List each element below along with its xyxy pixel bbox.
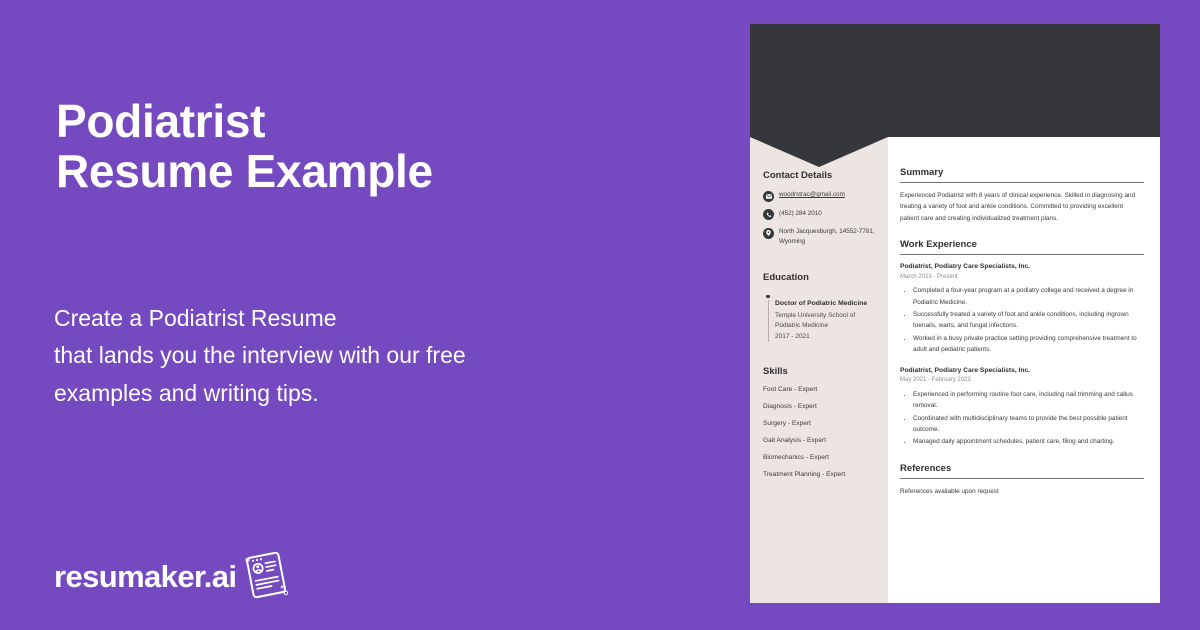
section-divider	[900, 478, 1144, 479]
contact-item-email[interactable]: woodrstrac@gmail.com	[763, 190, 876, 202]
skill-item: Foot Care - Expert	[763, 386, 876, 393]
contact-item-phone[interactable]: (452) 284 2010	[763, 209, 876, 221]
promo-panel: Podiatrist Resume Example Create a Podia…	[0, 0, 750, 630]
timeline-bullet-icon	[763, 292, 773, 342]
work-experience-section: Work Experience Podiatrist, Podiatry Car…	[900, 239, 1144, 448]
job-date: March 2023 - Present	[900, 273, 1144, 283]
work-experience-heading: Work Experience	[900, 239, 1144, 250]
email-value: woodrstrac@gmail.com	[779, 190, 845, 200]
promo-subtitle: Create a Podiatrist Resume that lands yo…	[54, 300, 466, 412]
section-divider	[900, 254, 1144, 255]
document-icon	[240, 551, 292, 603]
resume-header-banner	[750, 24, 1160, 137]
contact-item-address[interactable]: North Jacquesburgh, 14552-7781, Wyoming	[763, 227, 876, 248]
job-entry: Podiatrist, Podiatry Care Specialists, I…	[900, 366, 1144, 448]
job-bullet: Experienced in performing routine foot c…	[913, 389, 1144, 412]
address-value: North Jacquesburgh, 14552-7781, Wyoming	[779, 227, 876, 248]
page-title: Podiatrist Resume Example	[56, 96, 433, 196]
education-item: Doctor of Podiatric Medicine Temple Univ…	[763, 292, 876, 342]
resume-main-column: Summary Experienced Podiatrist with 8 ye…	[888, 137, 1160, 512]
job-bullet: Coordinated with multidisciplinary teams…	[913, 413, 1144, 436]
summary-text: Experienced Podiatrist with 8 years of c…	[900, 190, 1144, 224]
education-school: Temple University School of Podiatric Me…	[775, 311, 876, 332]
skill-item: Surgery - Expert	[763, 420, 876, 427]
phone-icon	[763, 209, 774, 220]
job-bullet: Completed a four-year program at a podia…	[913, 285, 1144, 308]
skill-item: Biomechanics - Expert	[763, 454, 876, 461]
section-divider	[900, 182, 1144, 183]
envelope-icon	[763, 191, 774, 202]
skill-item: Diagnosis - Expert	[763, 403, 876, 410]
skill-item: Gait Analysis - Expert	[763, 437, 876, 444]
education-heading: Education	[763, 272, 876, 283]
job-title: Podiatrist, Podiatry Care Specialists, I…	[900, 366, 1144, 376]
skill-item: Treatment Planning - Expert	[763, 471, 876, 478]
summary-heading: Summary	[900, 167, 1144, 178]
job-entry: Podiatrist, Podiatry Care Specialists, I…	[900, 262, 1144, 355]
logo-text: resumaker.ai	[54, 559, 236, 595]
skills-heading: Skills	[763, 366, 876, 377]
job-bullet: Successfully treated a variety of foot a…	[913, 309, 1144, 332]
resumaker-logo[interactable]: resumaker.ai	[54, 551, 292, 603]
phone-value: (452) 284 2010	[779, 209, 822, 219]
references-section: References References available upon req…	[900, 463, 1144, 497]
resume-sidebar: Contact Details woodrstrac@gmail.com (45…	[750, 137, 888, 603]
references-text: References available upon request	[900, 486, 1144, 497]
education-years: 2017 - 2021	[775, 332, 876, 342]
contact-details-heading: Contact Details	[763, 170, 876, 181]
resume-preview-card[interactable]: Woodr Strac Podiatrist Contact Details w…	[750, 24, 1160, 603]
job-bullet: Worked in a busy private practice settin…	[913, 333, 1144, 356]
header-chevron-notch	[750, 137, 888, 167]
education-degree: Doctor of Podiatric Medicine	[775, 300, 867, 307]
job-title: Podiatrist, Podiatry Care Specialists, I…	[900, 262, 1144, 272]
summary-section: Summary Experienced Podiatrist with 8 ye…	[900, 167, 1144, 224]
job-bullet: Managed daily appointment schedules, pat…	[913, 436, 1144, 447]
references-heading: References	[900, 463, 1144, 474]
location-pin-icon	[763, 228, 774, 239]
job-date: May 2021 - February 2023	[900, 376, 1144, 386]
